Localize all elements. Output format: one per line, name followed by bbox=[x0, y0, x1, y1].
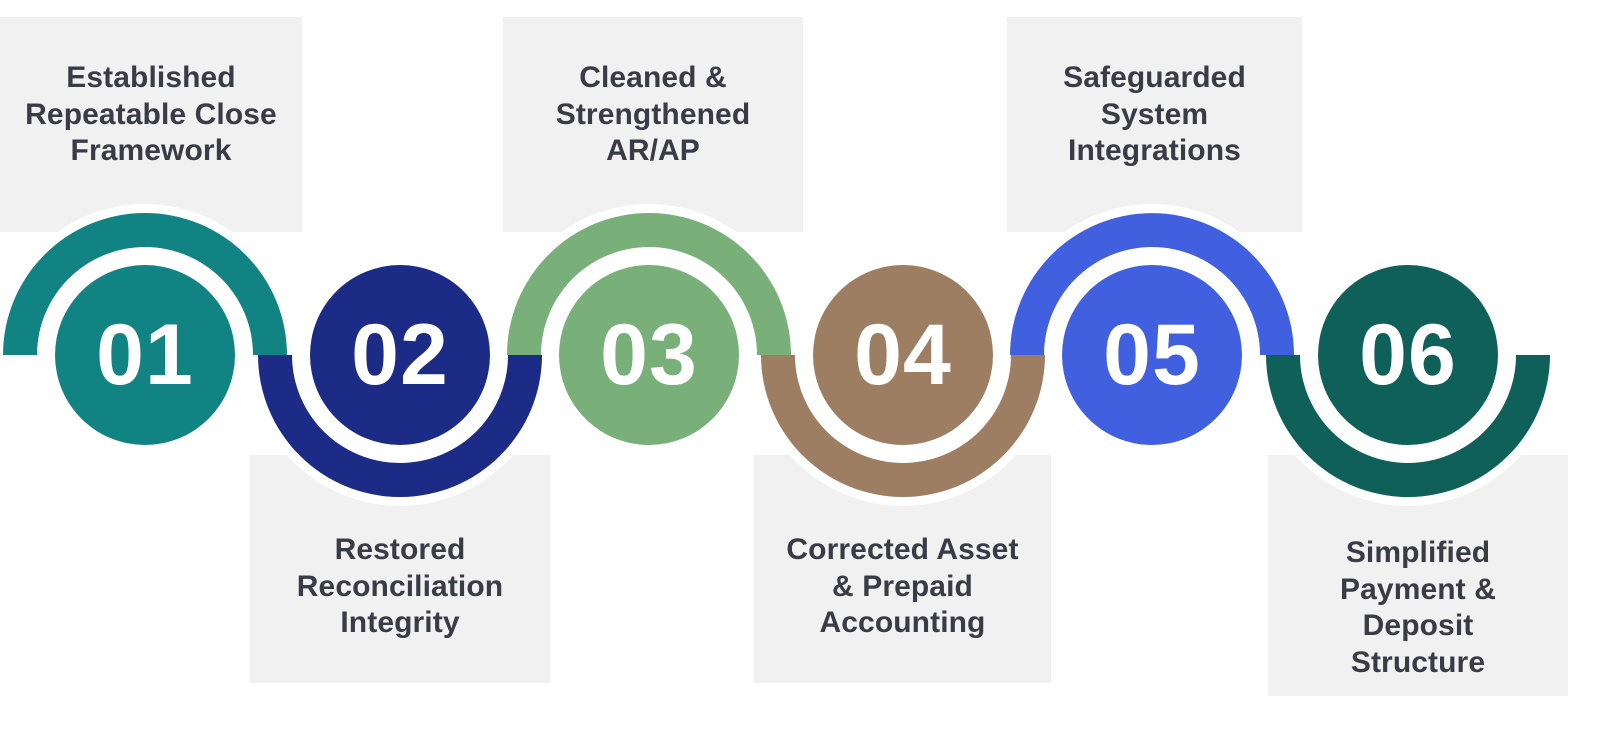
step-number-03: 03 bbox=[600, 307, 698, 403]
step-node-03[interactable]: 03 bbox=[550, 256, 748, 454]
step-node-05[interactable]: 05 bbox=[1053, 256, 1251, 454]
step-label-4: Corrected Asset & Prepaid Accounting bbox=[754, 532, 1051, 642]
step-label-5: Safeguarded System Integrations bbox=[1007, 60, 1302, 170]
step-number-05: 05 bbox=[1103, 307, 1201, 403]
infographic-canvas: 010203040506 Established Repeatable Clos… bbox=[0, 0, 1600, 741]
step-label-1: Established Repeatable Close Framework bbox=[0, 60, 302, 170]
step-node-06[interactable]: 06 bbox=[1309, 256, 1507, 454]
step-label-2: Restored Reconciliation Integrity bbox=[250, 532, 550, 642]
step-number-01: 01 bbox=[96, 307, 194, 403]
step-node-04[interactable]: 04 bbox=[804, 256, 1002, 454]
step-node-02[interactable]: 02 bbox=[301, 256, 499, 454]
step-node-01[interactable]: 01 bbox=[46, 256, 244, 454]
step-label-6: Simplified Payment & Deposit Structure bbox=[1268, 535, 1568, 681]
step-label-3: Cleaned & Strengthened AR/AP bbox=[503, 60, 803, 170]
step-number-02: 02 bbox=[351, 307, 449, 403]
step-number-04: 04 bbox=[854, 307, 952, 403]
step-number-06: 06 bbox=[1359, 307, 1457, 403]
